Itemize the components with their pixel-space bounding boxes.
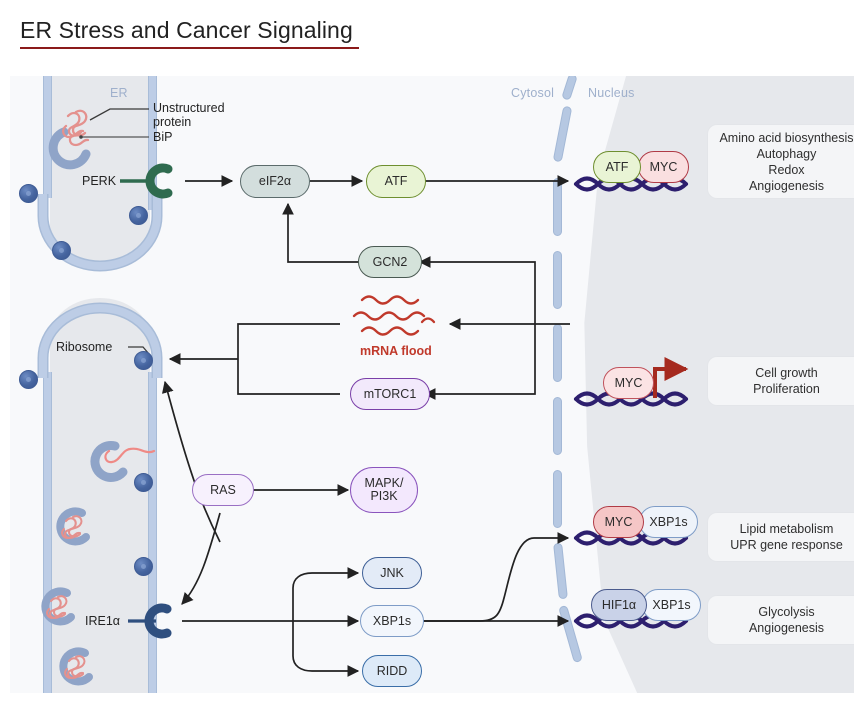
misfolded-aggregate xyxy=(60,511,86,541)
tf-xbp1s[interactable]: XBP1s xyxy=(639,506,698,538)
arrow-xbp1s-to-lipid-dna xyxy=(422,538,568,621)
ribosome-bead xyxy=(19,184,38,203)
ribosome-bead xyxy=(129,206,148,225)
label-unstructured-protein: Unstructured protein xyxy=(153,101,225,129)
label-ribosome: Ribosome xyxy=(56,340,112,354)
outcome-box-lipid-metabolism: Lipid metabolism UPR gene response xyxy=(708,513,854,561)
outcome-text: Glycolysis Angiogenesis xyxy=(749,604,824,636)
node-ras[interactable]: RAS xyxy=(192,474,254,506)
node-label: JNK xyxy=(380,567,404,580)
outcome-box-cell-growth: Cell growth Proliferation xyxy=(708,357,854,405)
page-title: ER Stress and Cancer Signaling xyxy=(20,16,359,44)
outcome-text: Amino acid biosynthesis Autophagy Redox … xyxy=(719,130,853,194)
node-label: GCN2 xyxy=(373,256,408,269)
node-label: RAS xyxy=(210,484,236,497)
tf-label: MYC xyxy=(605,516,633,529)
tf-label: ATF xyxy=(606,161,629,174)
label-ire1a: IRE1α xyxy=(85,614,120,628)
arrow-ire1a-to-jnk xyxy=(293,573,358,621)
node-eif2a[interactable]: eIF2α xyxy=(240,165,310,198)
misfolded-aggregate xyxy=(45,591,71,621)
tf-myc[interactable]: MYC xyxy=(603,367,654,399)
tf-label: MYC xyxy=(615,377,643,390)
diagram-page: ER Stress and Cancer Signaling ER Cytoso… xyxy=(0,0,864,701)
ribosome-bead xyxy=(134,351,153,370)
outcome-box-amino-acid: Amino acid biosynthesis Autophagy Redox … xyxy=(708,125,854,198)
ire1a-receptor-icon xyxy=(128,608,167,634)
node-label: eIF2α xyxy=(259,175,291,188)
tf-label: XBP1s xyxy=(652,599,690,612)
node-xbp1s[interactable]: XBP1s xyxy=(360,605,424,637)
arrow-mrna-to-gcn2 xyxy=(420,262,535,324)
node-mapk-pi3k[interactable]: MAPK/ PI3K xyxy=(350,467,418,513)
outcome-text: Cell growth Proliferation xyxy=(753,365,820,397)
node-label: ATF xyxy=(385,175,408,188)
outcome-box-glycolysis: Glycolysis Angiogenesis xyxy=(708,596,854,644)
tf-myc[interactable]: MYC xyxy=(638,151,689,183)
label-perk: PERK xyxy=(82,174,116,188)
tf-atf[interactable]: ATF xyxy=(593,151,641,183)
node-atf[interactable]: ATF xyxy=(366,165,426,198)
ribosome-bead xyxy=(134,473,153,492)
node-label: XBP1s xyxy=(373,615,411,628)
label-mrna-flood: mRNA flood xyxy=(360,344,432,358)
unstructured-protein-with-bip xyxy=(53,111,88,165)
node-jnk[interactable]: JNK xyxy=(362,557,422,589)
bracket-mrna-mtorc1 xyxy=(238,324,340,394)
tf-xbp1s[interactable]: XBP1s xyxy=(642,589,701,621)
arrow-gcn2-to-eif2a xyxy=(288,204,362,262)
misfolded-aggregate xyxy=(63,651,89,681)
ribosome-bead xyxy=(52,241,71,260)
node-label: RIDD xyxy=(377,665,408,678)
leader-unstructured xyxy=(90,109,149,120)
title-underline xyxy=(20,47,359,49)
node-label: MAPK/ PI3K xyxy=(365,477,404,503)
title-block: ER Stress and Cancer Signaling xyxy=(20,16,359,49)
arrow-ras-to-ire1a xyxy=(182,513,220,604)
mrna-flood-icon xyxy=(354,297,434,335)
perk-receptor-icon xyxy=(120,168,168,194)
tf-label: HIF1α xyxy=(602,599,636,612)
tf-label: XBP1s xyxy=(649,516,687,529)
arrow-mrna-to-mtorc1 xyxy=(425,324,535,394)
label-bip: BiP xyxy=(153,130,172,144)
tf-hif1a[interactable]: HIF1α xyxy=(591,589,647,621)
tf-label: MYC xyxy=(650,161,678,174)
outcome-text: Lipid metabolism UPR gene response xyxy=(730,521,843,553)
arrow-ire1a-to-ridd xyxy=(293,621,358,671)
node-gcn2[interactable]: GCN2 xyxy=(358,246,422,278)
node-label: mTORC1 xyxy=(364,388,417,401)
diagram-canvas: ER Cytosol Nucleus xyxy=(10,76,854,693)
ribosome-bead xyxy=(134,557,153,576)
tf-myc[interactable]: MYC xyxy=(593,506,644,538)
node-mtorc1[interactable]: mTORC1 xyxy=(350,378,430,410)
ribosome-bead xyxy=(19,370,38,389)
node-ridd[interactable]: RIDD xyxy=(362,655,422,687)
arrow-ras-to-ribosome xyxy=(165,382,220,542)
